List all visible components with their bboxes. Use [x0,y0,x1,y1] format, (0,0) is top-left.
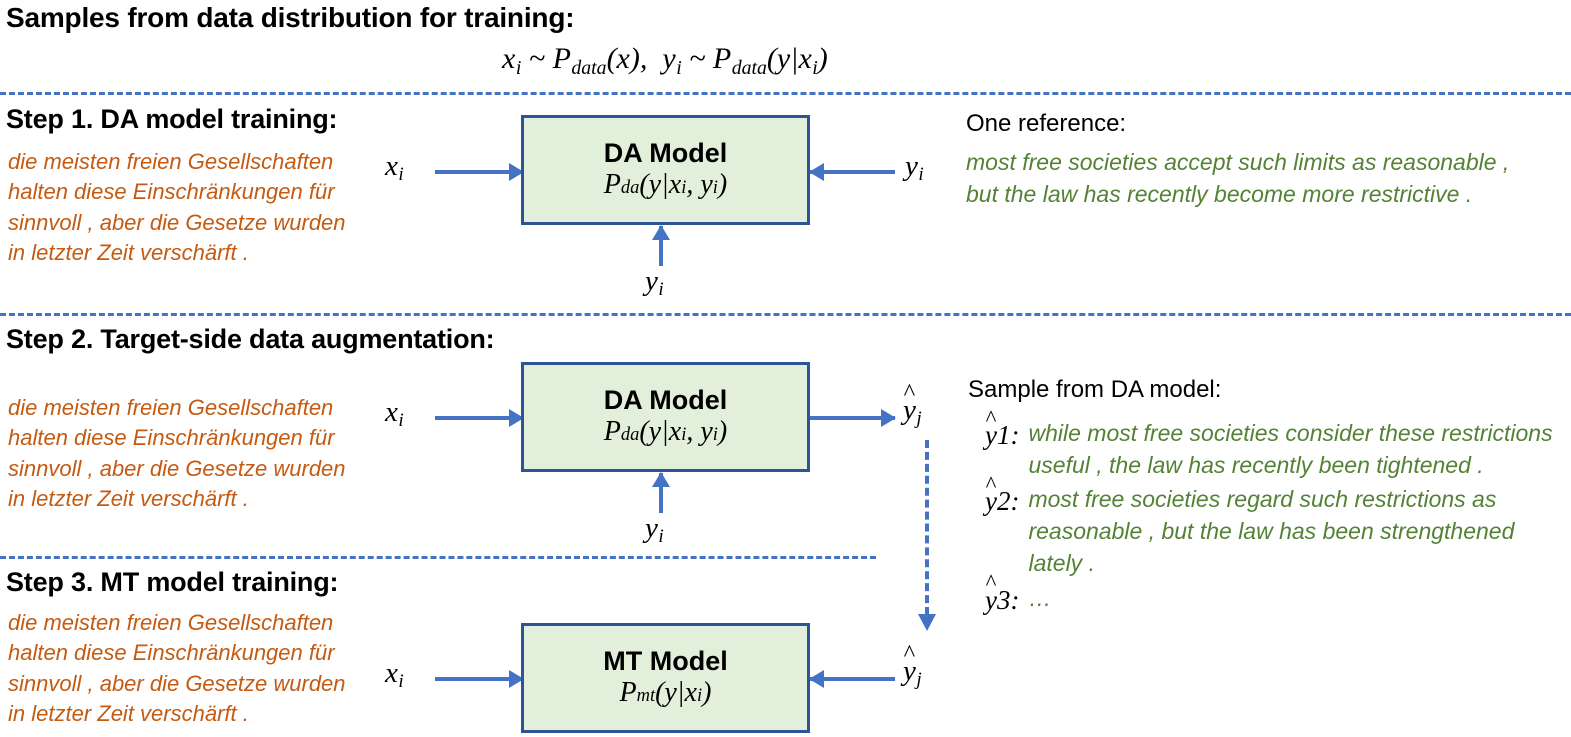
step-2-output-label: y^j [903,394,922,430]
step-3-heading-text: Step 3. MT model training: [6,567,338,597]
step-3-heading: Step 3. MT model training: [6,567,338,598]
step-1-arrow-input-left [435,170,523,174]
step-2-samples-list: y^1: while most free societies consider … [985,418,1571,616]
step-3-source-sentence: die meisten freien Gesellschaften halten… [8,608,378,729]
step-1-source-sentence: die meisten freien Gesellschaften halten… [8,147,378,268]
sample-2-text: most free societies regard such restrict… [1028,484,1571,579]
step-3-arrow-input-left [435,677,523,681]
step-2-input-left-label: xi [385,396,404,432]
step-2-heading-text: Step 2. Target-side data augmentation: [6,324,494,354]
step-1-input-right-label: yi [905,150,924,186]
step-2-arrow-output [810,416,895,420]
step-2-arrow-input-bottom [659,473,663,513]
step-2-input-bottom-label: yi [645,512,664,548]
step-1-reference-text: most free societies accept such limits a… [966,147,1521,210]
step-1-box-formula: Pda(y|xi, yi) [604,170,728,201]
separator-step3 [0,556,876,559]
step-2-to-step-3-dashed-arrow [925,440,929,615]
step-2-box-title: DA Model [604,386,728,414]
sample-3-key: y^3: [985,583,1019,616]
step-3-mt-model-box: MT Model Pmt(y|xi) [521,623,810,733]
step-3-input-right-label: y^j [903,655,922,691]
step-1-da-model-box: DA Model Pda(y|xi, yi) [521,115,810,225]
sample-3-text: … [1028,583,1571,615]
separator-step2 [0,313,1571,316]
step-2-source-sentence: die meisten freien Gesellschaften halten… [8,393,378,514]
step-1-box-title: DA Model [604,139,728,167]
page-title: Samples from data distribution for train… [6,2,574,34]
sample-1-text: while most free societies consider these… [1028,418,1571,481]
step-2-heading: Step 2. Target-side data augmentation: [6,324,494,355]
step-3-arrow-input-right [810,677,895,681]
sample-1-key: y^1: [985,418,1019,451]
step-1-arrow-input-bottom [659,226,663,266]
step-2-side-heading: Sample from DA model: [968,376,1221,404]
separator-step1 [0,92,1571,95]
page-title-text: Samples from data distribution for train… [6,2,574,33]
step-1-input-left-label: xi [385,150,404,186]
step-2-arrow-input-left [435,416,523,420]
list-item: y^3: … [985,583,1571,616]
step-1-side-heading: One reference: [966,110,1126,138]
step-1-input-bottom-label: yi [645,265,664,301]
sample-2-key: y^2: [985,484,1019,517]
step-3-box-title: MT Model [603,647,727,675]
sampling-formula-glyphs: xi ~ Pdata(x), yi ~ Pdata(y|xi) [502,42,828,75]
step-3-input-left-label: xi [385,657,404,693]
step-1-heading-text: Step 1. DA model training: [6,104,337,134]
step-1-arrow-input-right [810,170,895,174]
step-2-box-formula: Pda(y|xi, yi) [604,417,728,448]
list-item: y^2: most free societies regard such res… [985,484,1571,579]
step-2-da-model-box: DA Model Pda(y|xi, yi) [521,362,810,472]
step-3-box-formula: Pmt(y|xi) [620,678,712,709]
step-1-heading: Step 1. DA model training: [6,104,337,135]
list-item: y^1: while most free societies consider … [985,418,1571,481]
sampling-formula: xi ~ Pdata(x), yi ~ Pdata(y|xi) [502,42,828,80]
